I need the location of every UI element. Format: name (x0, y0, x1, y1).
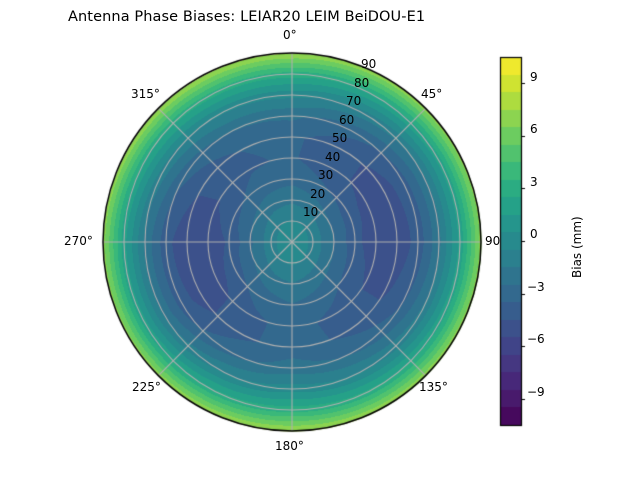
radial-tick-60: 60 (339, 114, 354, 126)
polar-contour-canvas (0, 0, 640, 480)
radial-tick-20: 20 (310, 188, 325, 200)
angle-tick-90: 90 (485, 235, 500, 247)
radial-tick-90: 90 (361, 58, 376, 70)
angle-tick-135: 135° (419, 381, 448, 393)
colorbar-axis-label: Bias (mm) (571, 216, 583, 278)
colorbar-tick-minus9: −9 (527, 386, 545, 398)
angle-tick-180: 180° (275, 440, 304, 452)
angle-tick-45: 45° (421, 88, 442, 100)
angle-tick-225: 225° (132, 381, 161, 393)
angle-tick-315: 315° (131, 88, 160, 100)
radial-tick-40: 40 (325, 151, 340, 163)
angle-tick-270: 270° (64, 235, 93, 247)
radial-tick-80: 80 (354, 77, 369, 89)
colorbar-tick-0: 0 (530, 228, 538, 240)
colorbar-tick-minus3: −3 (527, 281, 545, 293)
radial-tick-50: 50 (332, 132, 347, 144)
chart-title: Antenna Phase Biases: LEIAR20 LEIM BeiDO… (68, 10, 425, 25)
colorbar-tick-6: 6 (530, 123, 538, 135)
colorbar-tick-minus6: −6 (527, 333, 545, 345)
radial-tick-30: 30 (318, 169, 333, 181)
radial-tick-10: 10 (303, 206, 318, 218)
colorbar-tick-3: 3 (530, 176, 538, 188)
colorbar-tick-9: 9 (530, 71, 538, 83)
radial-tick-70: 70 (346, 95, 361, 107)
figure-canvas-container: Antenna Phase Biases: LEIAR20 LEIM BeiDO… (0, 0, 640, 480)
angle-tick-0: 0° (283, 29, 297, 41)
